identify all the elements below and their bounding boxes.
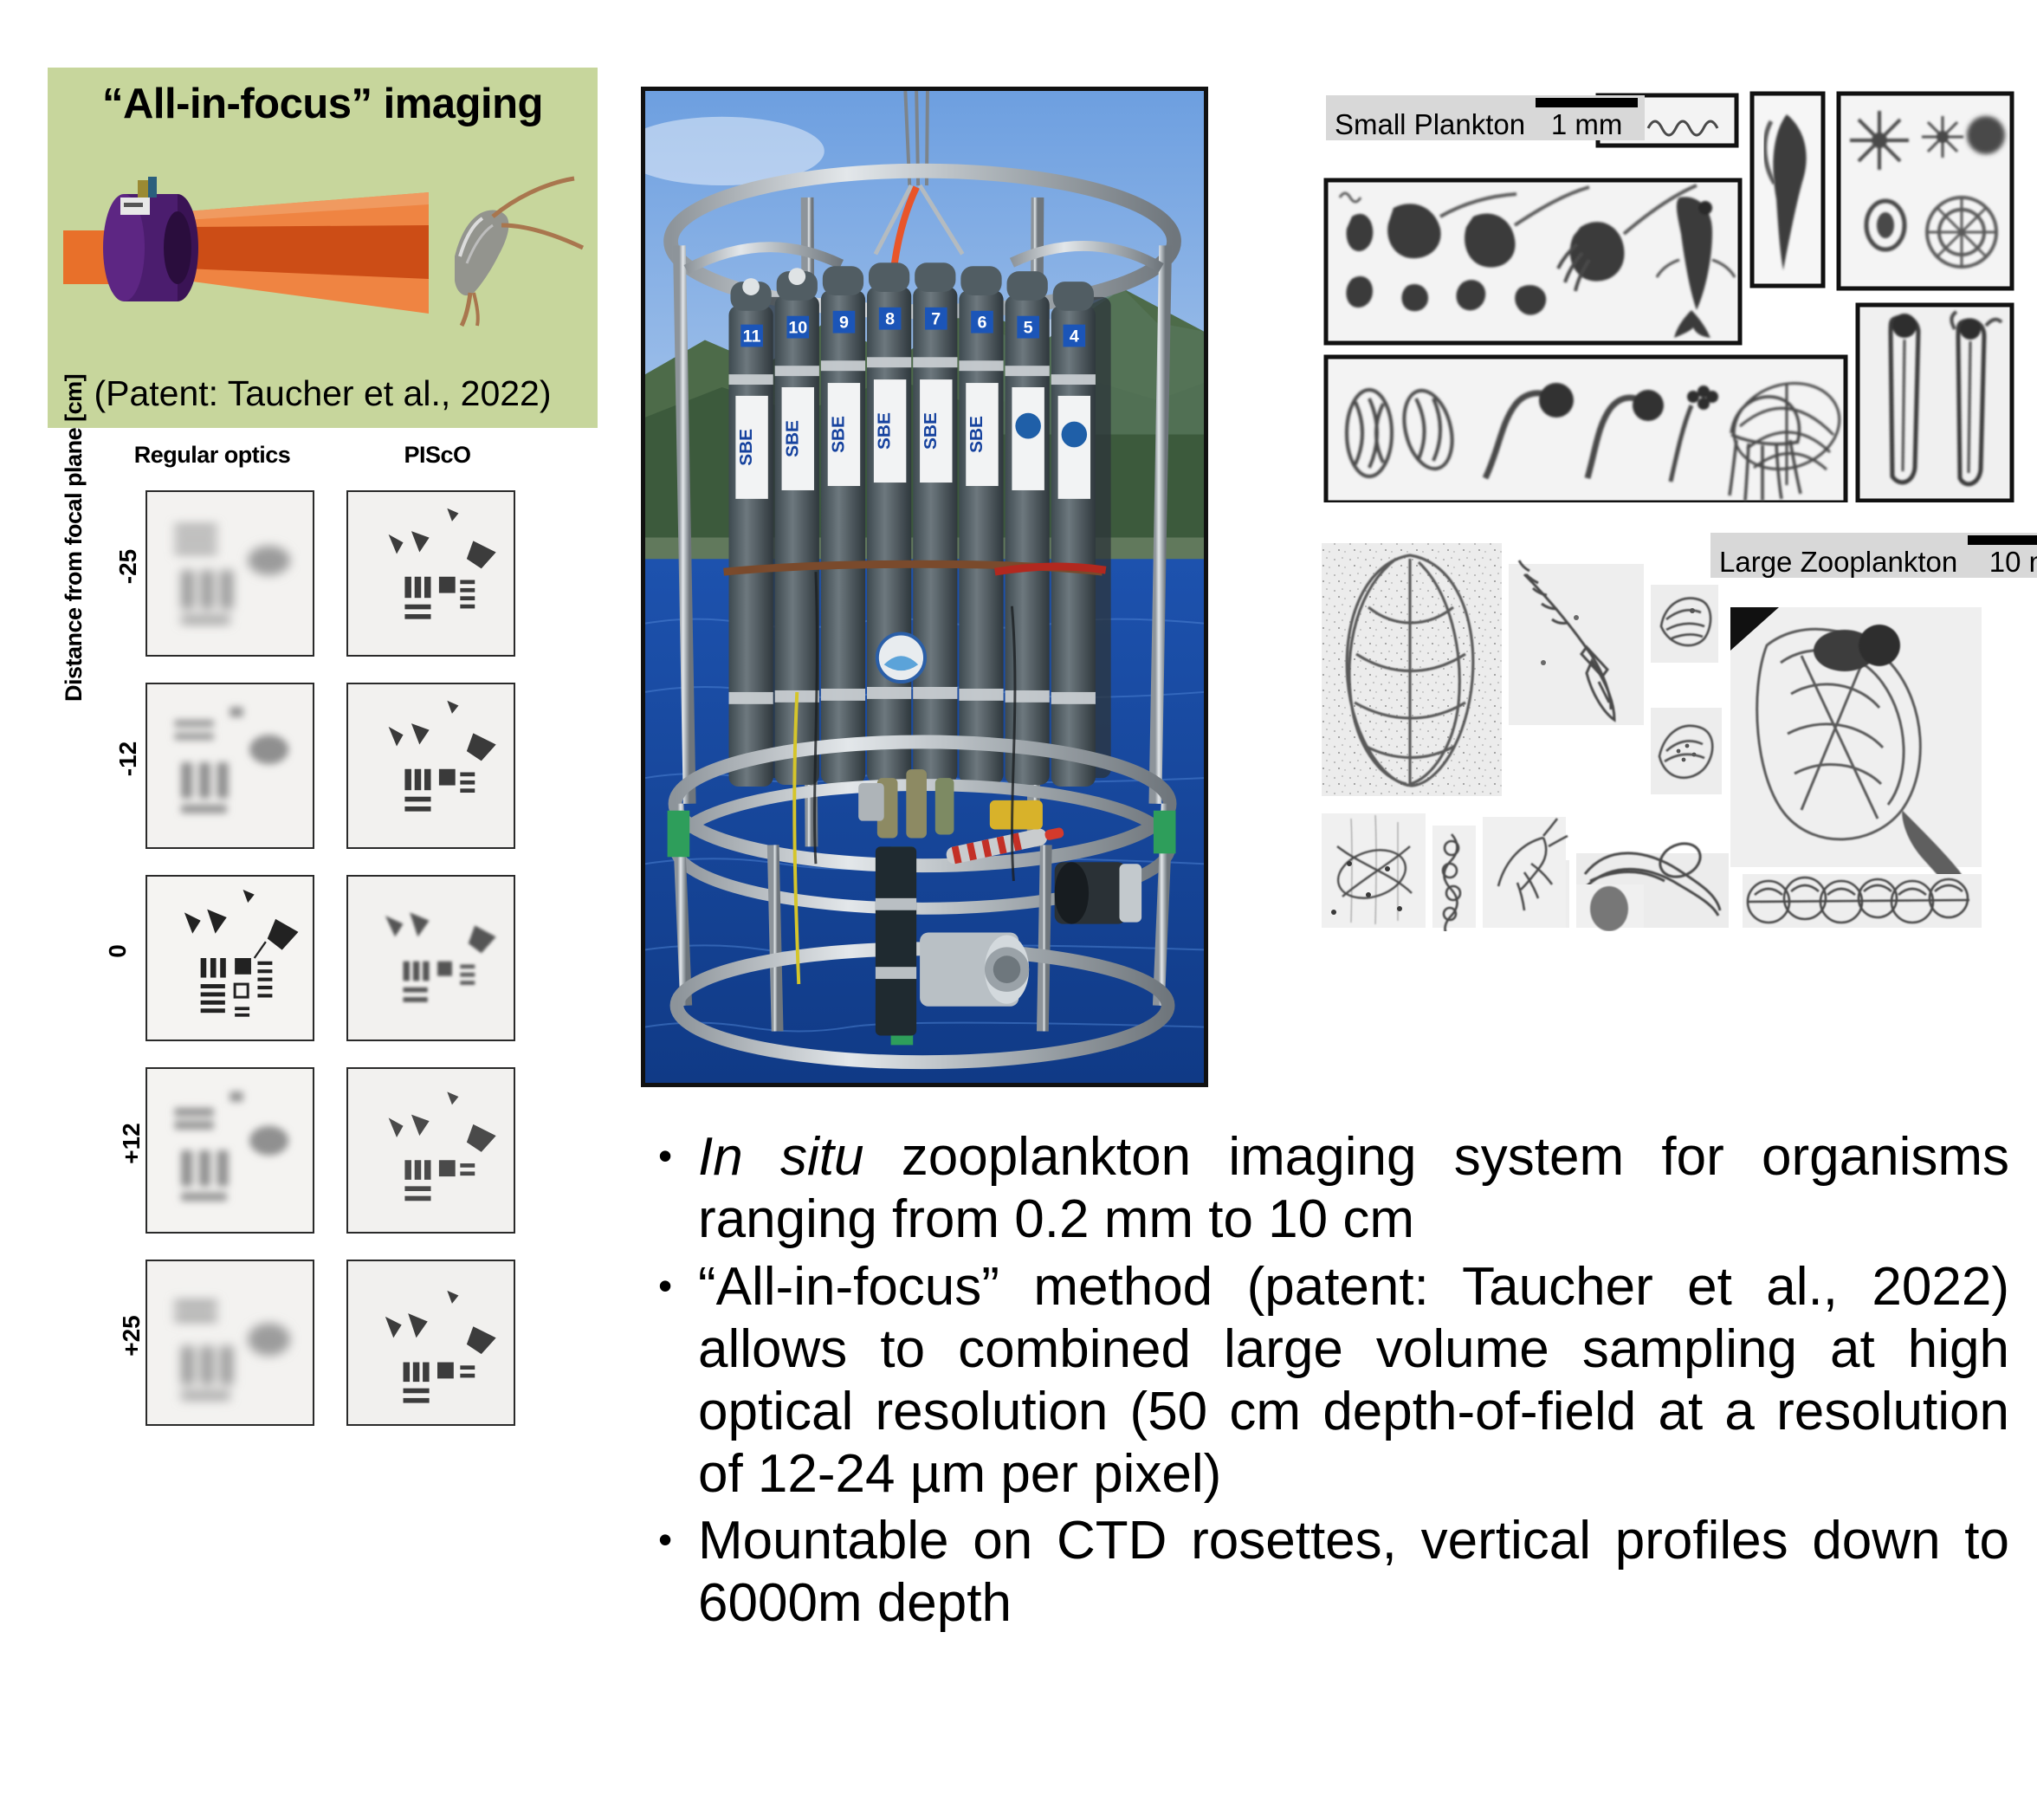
all-in-focus-title: “All-in-focus” imaging — [48, 80, 598, 128]
bullet-dot-icon: • — [658, 1126, 698, 1251]
scale-bar-icon — [1536, 98, 1638, 107]
bullet-1-rest: zooplankton imaging system for organisms… — [698, 1127, 2009, 1249]
small-plankton-scale-label: Small Plankton 1 mm — [1326, 95, 1645, 140]
svg-text:SBE: SBE — [736, 429, 756, 466]
cell-regular-zero — [145, 875, 314, 1041]
svg-text:9: 9 — [839, 314, 849, 333]
svg-text:5: 5 — [1024, 319, 1033, 338]
cell-pisco-plus25 — [346, 1260, 515, 1426]
svg-text:SBE: SBE — [967, 416, 986, 453]
table-row: -25 — [95, 490, 598, 665]
bullet-dot-icon: • — [658, 1256, 698, 1506]
svg-text:SBE: SBE — [829, 416, 849, 453]
small-plankton-scale-text: 1 mm — [1536, 110, 1638, 139]
y-axis-label: Distance from focal plane [cm] — [61, 286, 87, 702]
svg-text:7: 7 — [931, 310, 941, 329]
table-row: -12 — [95, 683, 598, 858]
cell-regular-minus25 — [145, 490, 314, 657]
large-zooplankton-scale: 10 mm — [1968, 535, 2037, 576]
svg-text:SBE: SBE — [782, 420, 802, 457]
cell-pisco-zero — [346, 875, 515, 1041]
bullet-text-2: “All-in-focus” method (patent: Taucher e… — [698, 1256, 2009, 1506]
table-row: +25 — [95, 1260, 598, 1435]
svg-text:SBE: SBE — [921, 412, 941, 450]
row-label-minus12: -12 — [114, 742, 142, 776]
bullet-text-1: In situ zooplankton imaging system for o… — [698, 1126, 2009, 1251]
svg-text:8: 8 — [885, 310, 895, 329]
all-in-focus-panel: “All-in-focus” imaging — [48, 68, 598, 428]
scale-bar-icon — [1968, 535, 2037, 545]
cell-regular-minus12 — [145, 683, 314, 849]
list-item: • “All-in-focus” method (patent: Taucher… — [658, 1256, 2009, 1506]
bullet-text-3: Mountable on CTD rosettes, vertical prof… — [698, 1510, 2009, 1635]
svg-text:10: 10 — [788, 319, 807, 338]
bullet-dot-icon: • — [658, 1510, 698, 1635]
all-in-focus-caption: (Patent: Taucher et al., 2022) — [48, 373, 598, 414]
small-plankton-label-text: Small Plankton — [1335, 110, 1525, 139]
cell-pisco-minus12 — [346, 683, 515, 849]
large-zooplankton-label-text: Large Zooplankton — [1719, 547, 1957, 576]
small-plankton-scale: 1 mm — [1536, 98, 1638, 139]
svg-text:11: 11 — [743, 327, 761, 346]
row-label-zero: 0 — [104, 944, 132, 958]
row-label-minus25: -25 — [114, 549, 142, 584]
column-header-pisco: PIScO — [338, 442, 537, 469]
cell-regular-plus12 — [145, 1067, 314, 1234]
svg-text:6: 6 — [977, 314, 986, 333]
row-label-plus25: +25 — [118, 1315, 145, 1357]
column-header-regular-optics: Regular optics — [113, 442, 312, 469]
small-plankton-montage — [1321, 87, 2018, 502]
large-zooplankton-scale-label: Large Zooplankton 10 mm — [1710, 533, 2037, 578]
large-zooplankton-scale-text: 10 mm — [1968, 547, 2037, 576]
bullet-1-italic-lead: In situ — [698, 1127, 863, 1187]
cell-pisco-minus25 — [346, 490, 515, 657]
svg-text:SBE: SBE — [875, 412, 895, 450]
large-zooplankton-montage — [1316, 524, 2022, 931]
table-row: +12 — [95, 1067, 598, 1242]
list-item: • Mountable on CTD rosettes, vertical pr… — [658, 1510, 2009, 1635]
cell-regular-plus25 — [145, 1260, 314, 1426]
focus-comparison-grid: Regular optics PIScO Distance from focal… — [95, 442, 598, 1447]
svg-text:4: 4 — [1070, 327, 1079, 346]
ctd-rosette-photo: 1110 98 76 54 SBE SBE SBE SBE — [641, 87, 1208, 1087]
list-item: • In situ zooplankton imaging system for… — [658, 1126, 2009, 1251]
feature-bullet-list: • In situ zooplankton imaging system for… — [658, 1126, 2009, 1640]
all-in-focus-diagram — [48, 151, 598, 343]
cell-pisco-plus12 — [346, 1067, 515, 1234]
table-row: 0 — [95, 875, 598, 1050]
row-label-plus12: +12 — [118, 1123, 145, 1164]
